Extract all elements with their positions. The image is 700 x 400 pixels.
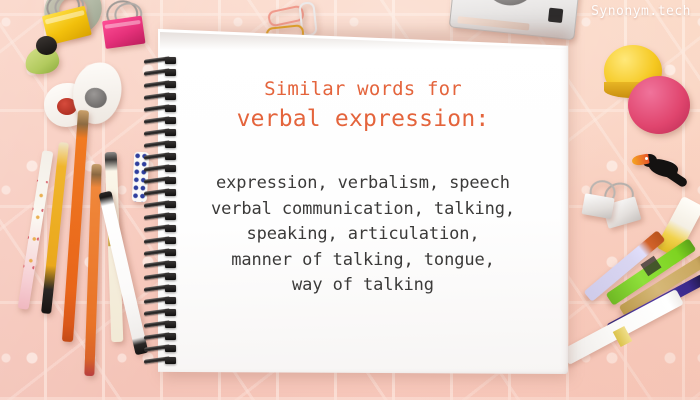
notebook: Similar words for verbal expression: exp…: [158, 24, 570, 376]
synonym-line: manner of talking, tongue,: [178, 248, 548, 274]
screenshot-root: Similar words for verbal expression: exp…: [0, 0, 700, 400]
binder-clip-white-2: [581, 189, 620, 224]
synonym-line: verbal communication, talking,: [178, 197, 548, 223]
macaron-pink: [628, 76, 690, 134]
synonym-list: expression, verbalism, speech verbal com…: [178, 171, 548, 299]
bird-figurine-green: [20, 36, 62, 76]
card-content: Similar words for verbal expression: exp…: [178, 76, 548, 299]
synonym-line: way of talking: [178, 273, 548, 299]
site-watermark: Synonym.tech: [591, 4, 691, 19]
page-title-prefix: Similar words for: [178, 76, 548, 102]
page-title-term: verbal expression:: [178, 104, 548, 135]
synonym-line: expression, verbalism, speech: [178, 171, 548, 197]
toucan-sticker: [632, 152, 690, 194]
binder-clip-magenta: [101, 11, 150, 57]
synonym-line: speaking, articulation,: [178, 222, 548, 248]
